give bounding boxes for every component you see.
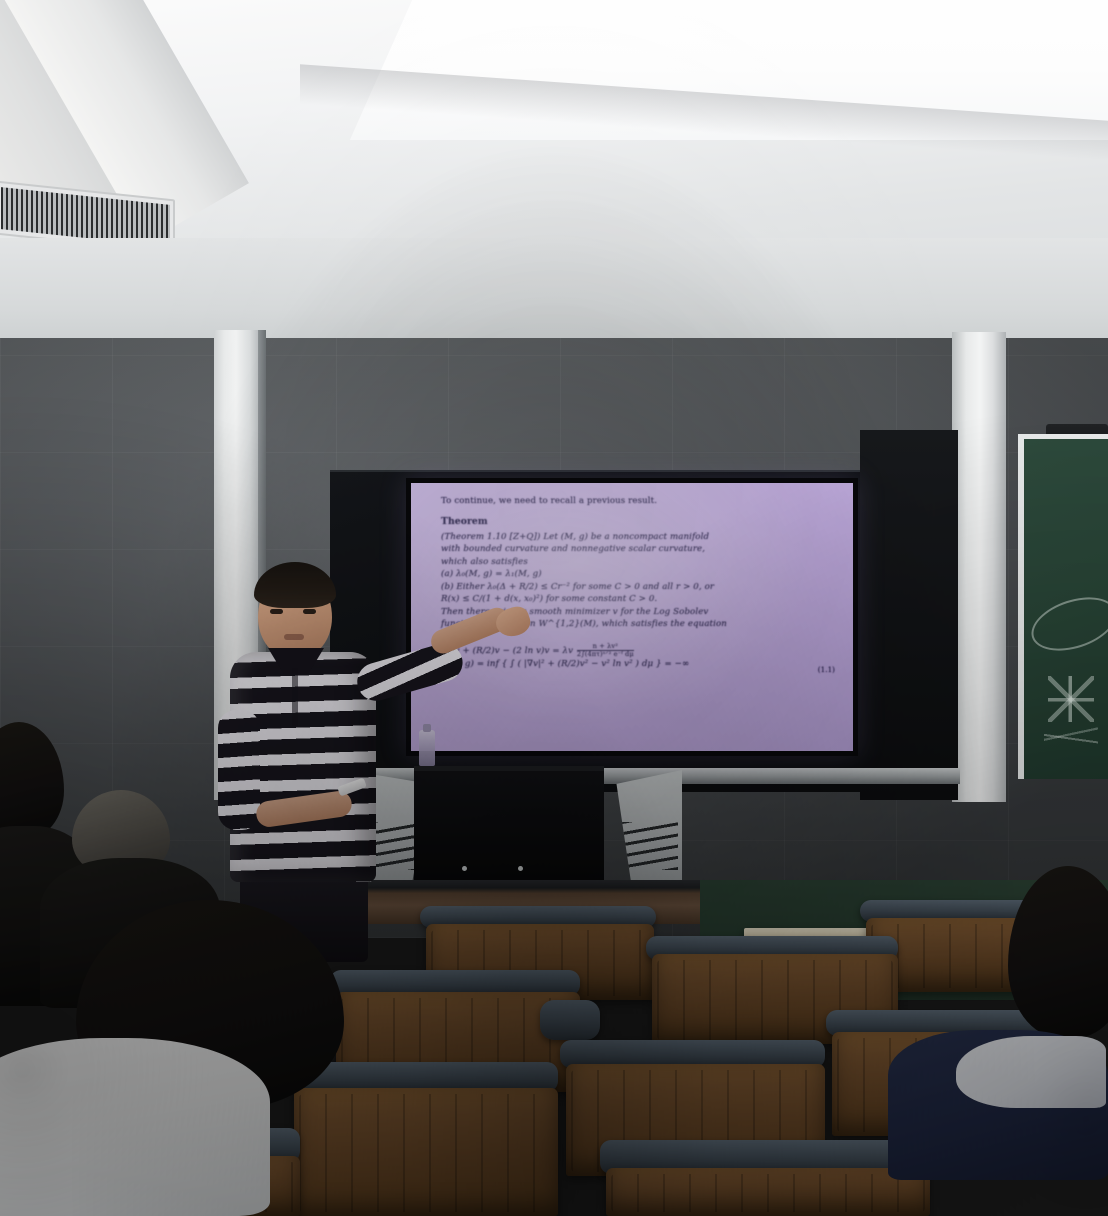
lectern-right-panel	[598, 770, 682, 886]
audience-body-center-white-shirt	[0, 1038, 270, 1216]
chalk-scribble-icon	[1044, 726, 1098, 752]
audience-shoulder-stripe-right	[956, 1036, 1106, 1108]
lectern-screw-right	[518, 866, 523, 871]
slide-body-line-3: (a) λ₀(M, g) = λ₁(M, g)	[441, 568, 839, 580]
lecture-hall-photo: To continue, we need to recall a previou…	[0, 0, 1108, 1216]
seat-back-front-right	[606, 1168, 930, 1216]
seat-pad-small-row3	[540, 1000, 600, 1040]
slide-lead-line: To continue, we need to recall a previou…	[441, 495, 839, 507]
seat-back-row2-left	[294, 1088, 558, 1216]
speaker-eye-left	[270, 609, 283, 614]
lectern-screw-left	[462, 866, 467, 871]
fraction-denominator: 2∫(4πτ)ⁿᐟ² e⁻ᶠ dμ	[577, 650, 634, 658]
speaker-left-arm	[218, 710, 260, 830]
chalk-star-sketch-icon	[1048, 676, 1094, 722]
slide-body-line-1: with bounded curvature and nonnegative s…	[441, 543, 839, 555]
slide-body-line-2: which also satisfies	[441, 556, 839, 568]
speaker	[196, 560, 456, 960]
right-pillar	[952, 332, 1006, 802]
blackboard-recess-right	[860, 430, 958, 800]
slide-equation-line-2: L(M, g) = inf { ∫ ( |∇v|² + (R/2)v² − v²…	[441, 659, 689, 669]
speaker-hair	[254, 562, 336, 608]
speaker-shirt-placket	[292, 668, 298, 726]
speaker-eye-right	[303, 609, 316, 614]
slide-theorem-heading: Theorem	[441, 515, 839, 528]
slide-equation-fraction: n + λv² 2∫(4πτ)ⁿᐟ² e⁻ᶠ dμ	[577, 643, 634, 658]
lectern-vent-slots-right	[608, 822, 678, 870]
slide-equation-tag: (1.1)	[818, 665, 835, 675]
slide-body-line-4: (b) Either λ₀(Δ + R/2) ≤ Cr⁻² for some C…	[441, 581, 839, 593]
slide-content: To continue, we need to recall a previou…	[441, 495, 839, 671]
slide-body-line-0: (Theorem 1.10 [Z+Q]) Let (M, g) be a non…	[441, 531, 839, 543]
slide-body-line-5: R(x) ≤ C/(1 + d(x, x₀)²) for some consta…	[441, 593, 839, 605]
speaker-mouth	[284, 634, 304, 640]
slide-equation-block: −Δv + (R/2)v − (2 ln v)v = λv n + λv² 2∫…	[441, 643, 839, 670]
